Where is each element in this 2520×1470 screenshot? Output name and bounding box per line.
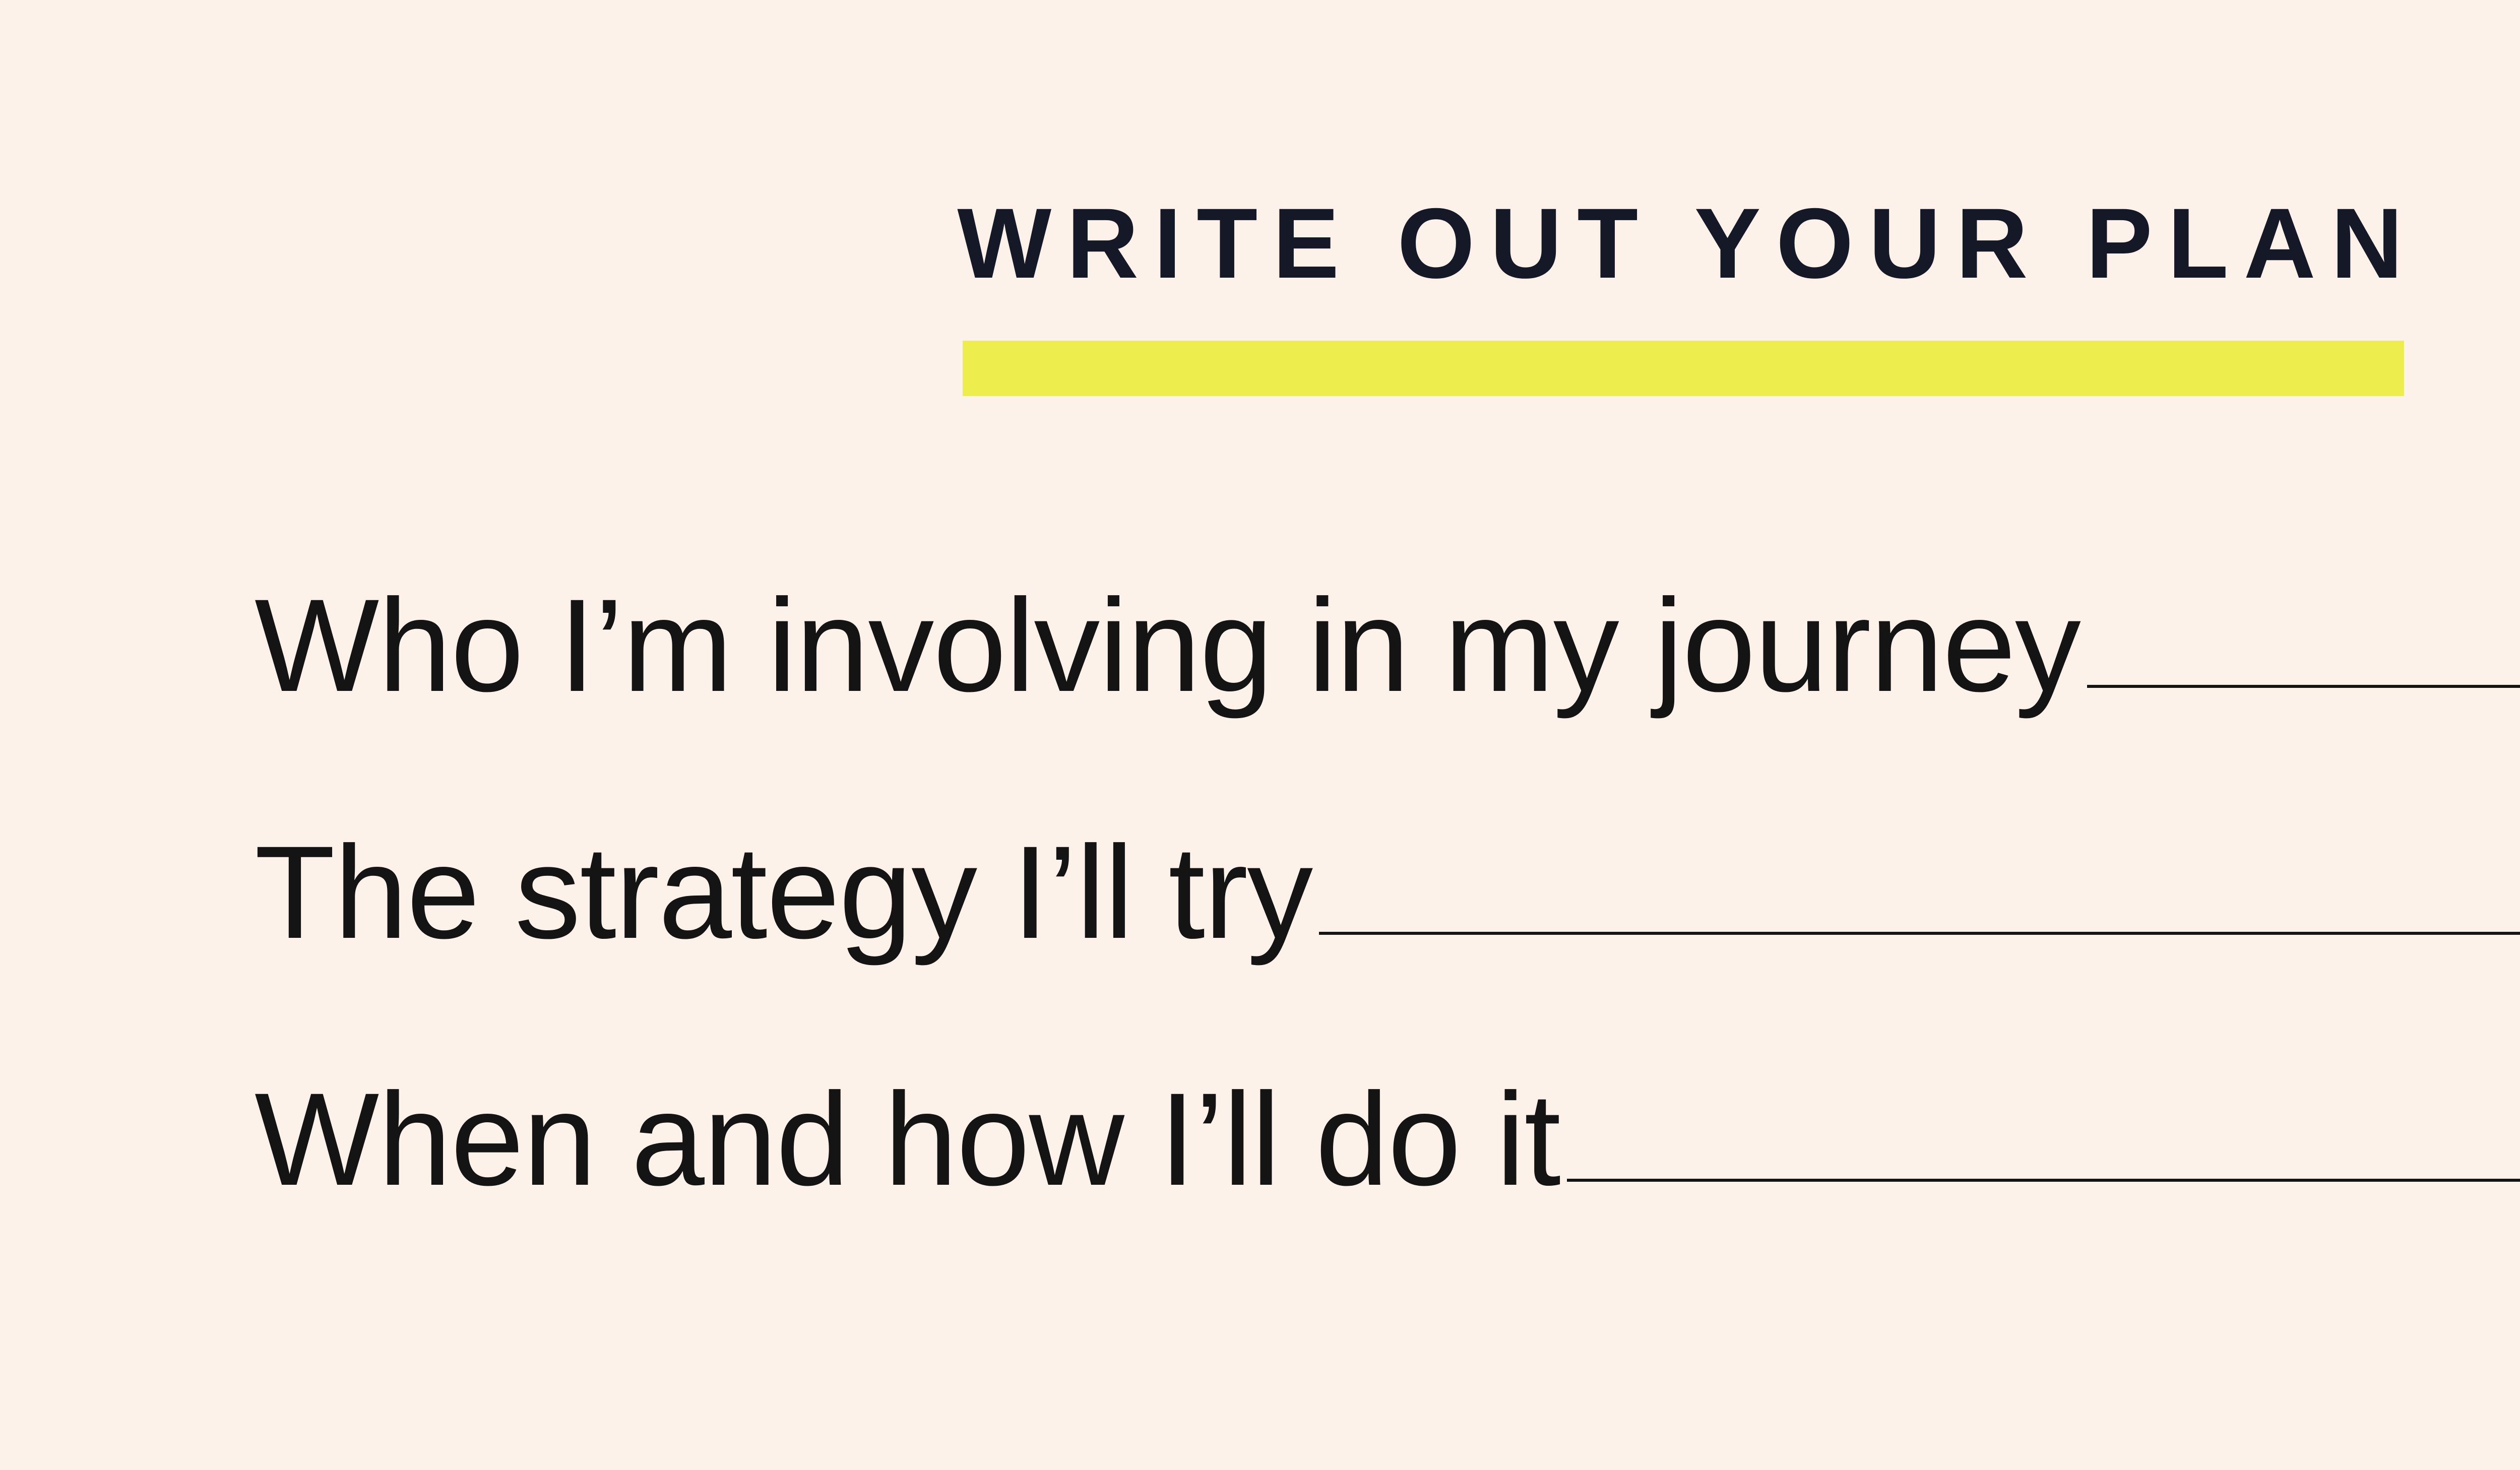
prompt-label-who: Who I’m involving in my journey <box>255 580 2080 712</box>
write-in-line-who[interactable] <box>2087 685 2520 688</box>
write-in-line-when-how[interactable] <box>1567 1179 2520 1182</box>
prompt-label-strategy: The strategy I’ll try <box>255 826 1312 958</box>
prompt-list: Who I’m involving in my journey The stra… <box>255 580 2520 1320</box>
heading-block: WRITE OUT YOUR PLAN <box>0 191 2520 295</box>
page-title: WRITE OUT YOUR PLAN <box>942 191 2418 295</box>
title-underline-bar <box>963 341 2404 396</box>
prompt-row: When and how I’ll do it <box>255 1073 2520 1320</box>
write-in-line-strategy[interactable] <box>1319 932 2520 935</box>
prompt-row: The strategy I’ll try <box>255 826 2520 1073</box>
prompt-row: Who I’m involving in my journey <box>255 580 2520 826</box>
worksheet-page: WRITE OUT YOUR PLAN Who I’m involving in… <box>0 0 2520 1470</box>
prompt-label-when-how: When and how I’ll do it <box>255 1073 1560 1205</box>
